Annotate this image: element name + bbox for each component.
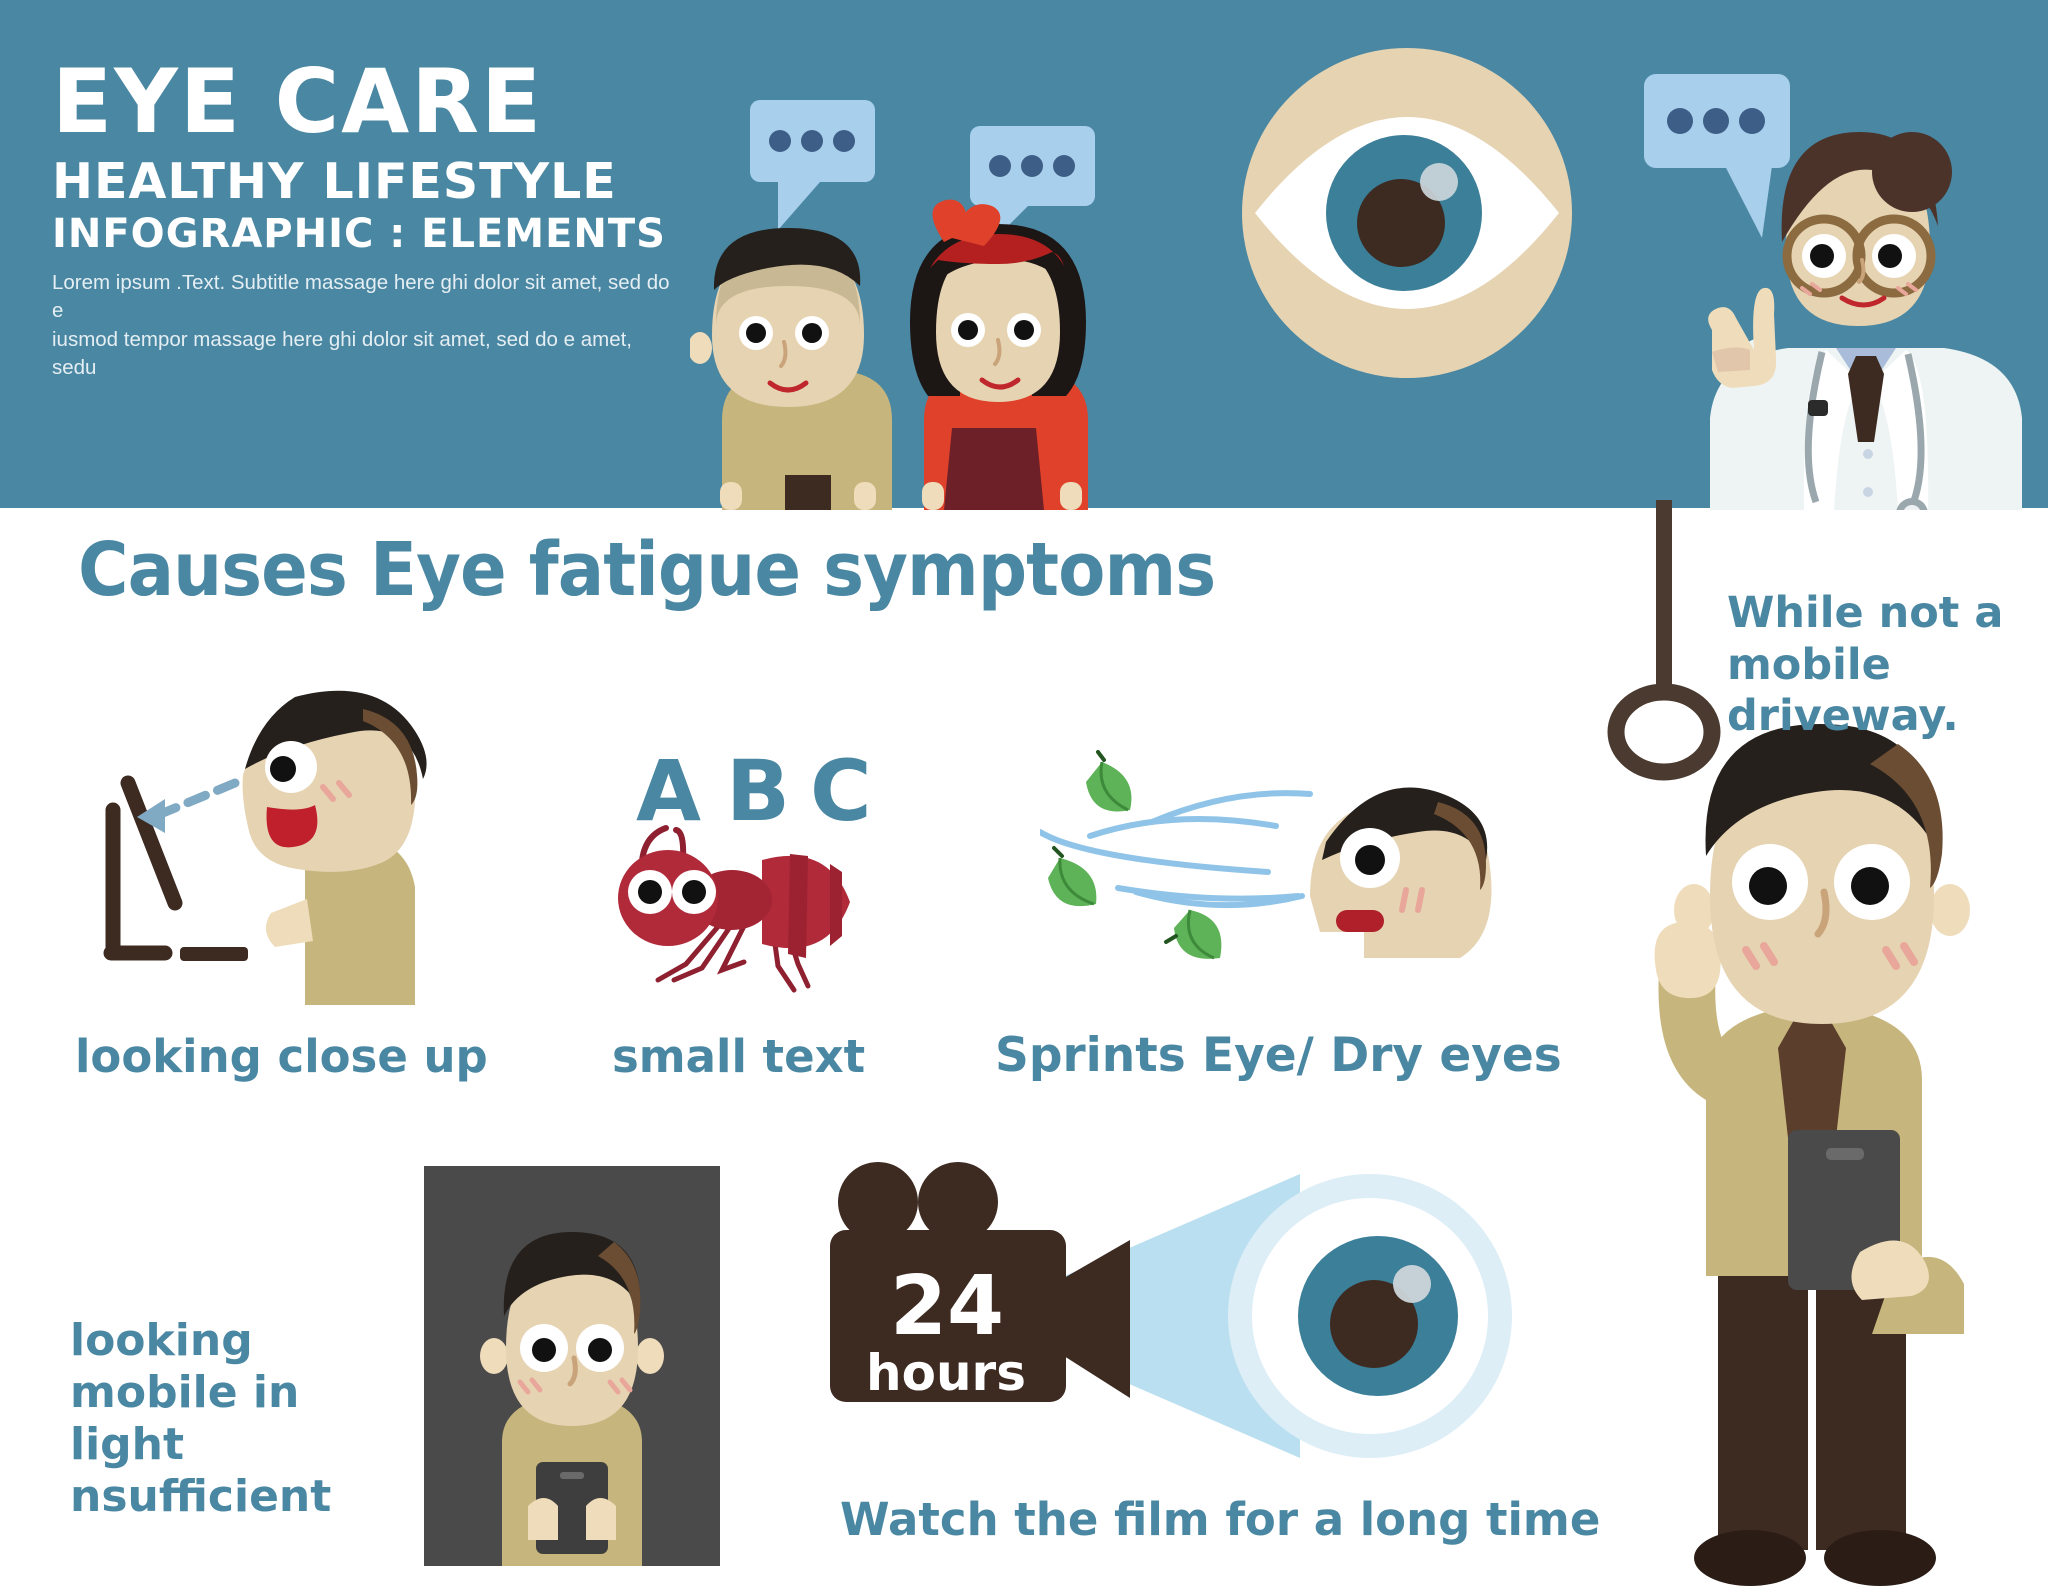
eye-icon [1222,38,1592,388]
abc-letter-a: A [636,742,701,840]
header-characters [690,90,1210,510]
movie-camera-eye-icon: 24 hours [830,1158,1590,1478]
section-heading: Causes Eye fatigue symptoms [78,527,1215,613]
leaf-icon [1086,752,1131,811]
abc-letter-b: B [726,742,790,840]
dark-room-phone-icon [424,1166,720,1566]
caption-looking-close-up: looking close up [75,1030,488,1083]
ant-and-abc-icon: A B C [612,740,902,1020]
header-lorem-line-1: Lorem ipsum .Text. Subtitle massage here… [52,269,672,326]
caption-watch-film: Watch the film for a long time [840,1493,1600,1546]
page-title: EYE CARE [52,60,692,144]
caption-looking-mobile-low-light: looking mobile in light nsufficient [70,1315,360,1523]
page-subtitle-2: INFOGRAPHIC : ELEMENTS [52,213,692,255]
windy-face-icon [1040,750,1520,1040]
header-lorem-line-2: iusmod tempor massage here ghi dolor sit… [52,326,672,383]
camera-hours-unit: hours [866,1344,1026,1402]
title-block: EYE CARE HEALTHY LIFESTYLE INFOGRAPHIC :… [52,60,692,382]
doctor-character-icon [1640,60,2040,510]
woman-character-icon [910,200,1088,510]
infographic-canvas: EYE CARE HEALTHY LIFESTYLE INFOGRAPHIC :… [0,0,2048,1593]
caption-while-not-a-mobile-driveway: While not a mobile driveway. [1727,588,2027,743]
caption-small-text: small text [612,1030,865,1083]
page-subtitle-1: HEALTHY LIFESTYLE [52,156,692,207]
camera-hours-number: 24 [890,1259,1004,1354]
man-character-icon [690,228,892,510]
abc-letter-c: C [810,742,872,840]
man-at-monitor-icon [95,655,485,1005]
caption-sprints-dry-eyes: Sprints Eye/ Dry eyes [995,1028,1562,1083]
leaf-icon [1166,910,1221,959]
speech-bubble-icon [750,100,875,230]
speech-bubble-icon [1644,74,1790,238]
leaf-icon [1048,848,1096,906]
